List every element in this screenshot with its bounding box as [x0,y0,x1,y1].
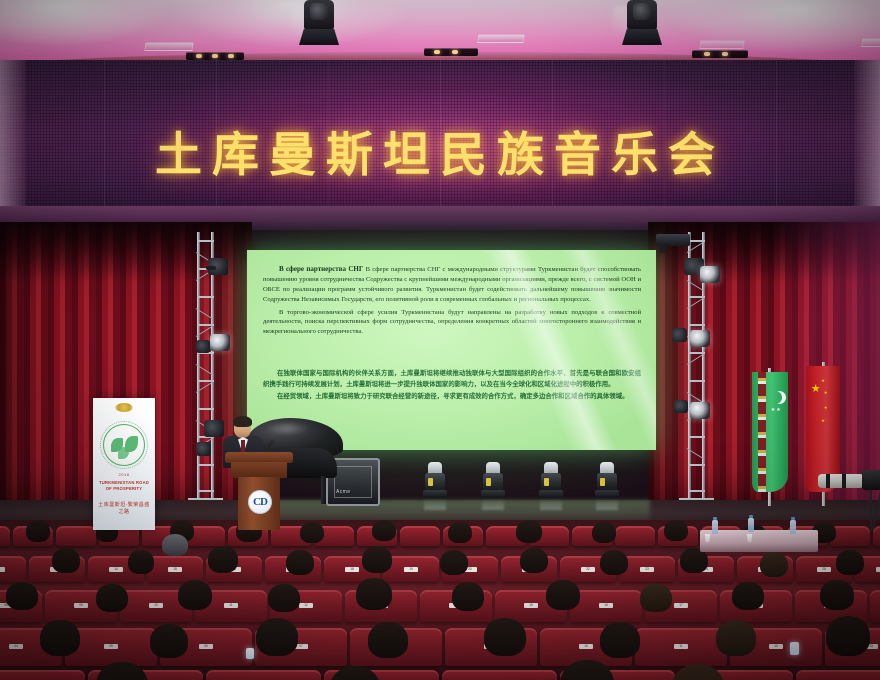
university-crest-icon: CD [248,490,272,514]
ceiling-light-slot [186,52,244,60]
audience-head [368,622,408,658]
ceiling-light-slot [692,50,748,58]
crescent-icon [769,391,782,404]
audience-head [286,550,314,575]
audience-head [40,620,80,656]
audience-head [26,520,50,542]
banner-logo-icon [103,424,145,466]
audience-phone-screen [246,648,254,659]
stars-icon: ★★ [771,408,782,413]
ceiling-light-slot [424,48,478,56]
audience-head [52,548,80,573]
lectern: CD [228,452,290,530]
audience-head [356,578,392,610]
audience-head [664,520,688,541]
ceiling-vent [699,40,744,49]
audience-head [362,546,392,573]
speaker-hair [233,416,252,427]
floor-moving-head [482,462,504,502]
par-light-arm [206,266,216,270]
slide-paragraph: В сфере партнерства СНГ В сфере партнерс… [263,264,641,305]
water-bottle [790,520,796,534]
audience-phone-screen [790,642,799,655]
slide-cn-paragraph-1: 在独联体国家与国际机构的伙伴关系方面，土库曼斯坦将继续推动独联体与大型国际组织的… [263,368,641,389]
slide-paragraph-2: В торгово-экономической сфере усилия Тур… [263,308,641,338]
turkmenistan-flag: ★★ [752,372,788,492]
par-light [672,328,687,342]
audience-head [640,584,672,612]
stage-photograph: 土库曼斯坦民族音乐会 В сфере партнерства СНГ В сфе… [0,0,880,680]
audience-head [672,664,724,680]
slide-russian-text: В сфере партнерства СНГ В сфере партнерс… [263,264,641,340]
audience-head [178,580,212,610]
led-wall-title: 土库曼斯坦民族音乐会 [0,116,880,185]
floor-moving-head [596,462,618,502]
audience-head [128,550,154,574]
speaker-tie [241,440,245,452]
ceiling-vent [477,34,524,43]
audience-head [452,582,484,611]
china-small-star-icon: ★ [821,419,825,424]
audience-head [96,584,128,612]
ceiling-projector [656,234,690,246]
audience-head [330,666,380,680]
banner-chinese-text: 土库曼斯坦·繁荣昌盛之路 [97,501,151,515]
water-bottle [712,520,718,534]
ceiling-vent [144,42,193,51]
floor-moving-head [424,462,446,502]
par-light [196,442,211,456]
banner-year: 2018 [93,472,155,477]
led-video-wall: 土库曼斯坦民族音乐会 [0,60,880,212]
audience-head [760,552,788,577]
audience-head [150,624,188,658]
china-small-star-icon: ★ [824,406,828,411]
slide-cn-paragraph-2: 在经贸领域，土库曼斯坦将致力于研究联合经营的新途径，寻求更有成效的合作方式，确定… [263,391,641,402]
par-light [674,400,688,413]
crest-glyph: CD [253,496,267,508]
rollup-banner: 2018 TURKMENISTAN ROAD OF PROSPERITY 土库曼… [93,398,155,530]
par-light [690,330,710,347]
par-light [204,420,224,437]
china-large-star-icon: ★ [811,384,821,395]
par-light [690,402,710,419]
ceiling-vent [861,38,880,47]
banner-english-text: TURKMENISTAN ROAD OF PROSPERITY [97,480,151,493]
audience-head [592,522,616,543]
audience-head [448,522,472,543]
china-small-star-icon: ★ [824,391,828,396]
audience-head [836,550,864,575]
audience-head [716,620,756,656]
audience-head [826,616,870,656]
audience-head [268,584,300,612]
par-light [210,334,230,351]
camera-body [862,470,880,490]
slide-lead-phrase: В сфере партнерства СНГ [279,265,363,273]
audience-head [6,582,38,610]
turkmen-carpet-stripe [758,372,765,492]
audience-head [732,582,764,610]
audience-head [162,534,188,556]
water-bottle [748,518,754,532]
audience-head [600,622,640,658]
audience-head [546,580,580,610]
audience-head [820,580,854,610]
china-small-star-icon: ★ [821,379,825,384]
camera-lens [818,474,864,488]
par-light [700,266,720,283]
audience-head [484,618,526,656]
audience-head [256,618,298,656]
floor-moving-head [540,462,562,502]
audience-head [440,550,468,575]
camera-tripod [870,490,872,530]
par-light [196,340,210,353]
audience-head [300,522,324,543]
microphone-icon [270,440,275,444]
audience-head [372,520,396,541]
audience-head [516,520,542,543]
audience-head [520,548,548,573]
audience-head [208,546,238,573]
slide-chinese-text: 在独联体国家与国际机构的伙伴关系方面，土库曼斯坦将继续推动独联体与大型国际组织的… [263,368,641,404]
audience-head [600,550,628,575]
banner-crest-icon [115,403,133,412]
